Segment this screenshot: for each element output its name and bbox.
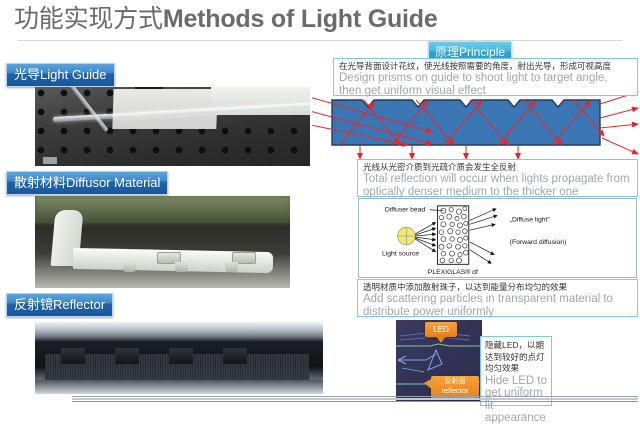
forward-diffusion-label: (Forward diffusion) [510,239,567,246]
diffuse-light-label: „Diffuse light" [510,216,551,223]
photo-reflector [35,322,323,394]
section-label-light-guide: 光导Light Guide [6,63,115,87]
led-module-3 [169,348,193,364]
diffusor-lug-2 [175,262,188,272]
led-reflector-cad-image: LED 反射面 reflector [396,320,482,402]
rod-clip [43,157,57,164]
section-label-reflector-en: Reflector [53,297,105,312]
principle-prism-en: Design prisms on guide to shoot light to… [339,72,633,97]
chrome-bezel [35,322,323,341]
callout-led: LED [425,322,457,337]
led-module-4 [223,348,247,364]
principle-prism-zh: 在光导背面设计花纹，使光线按照需要的角度，射出光导，形成可视高度 [339,61,633,72]
principle-reflection-zh: 光线从光密介质到光疏介质会发生全反射 [363,162,633,173]
light-source-label: Light source [382,251,419,258]
photo-diffusor-content [35,196,290,288]
footer-divider [72,396,638,402]
section-label-diffusor-en: Diffusor Material [66,175,160,190]
photo-diffusor [35,196,290,288]
photo-reflector-content [35,322,323,394]
diffuser-bead-diagram: Diffuser bead Light source „Diffuse ligh… [358,198,637,278]
section-label-principle-zh: 原理 [435,45,459,59]
photo-light-guide [35,87,310,166]
diffusor-part [47,210,277,272]
diffusor-lug-1 [123,262,136,272]
prism-light-guide-diagram [312,88,640,160]
led-module-2 [115,348,139,364]
incident-rays [415,222,435,251]
diffuser-bead-label: Diffuser bead [385,207,426,214]
callout-reflector-en: reflector [431,386,479,396]
section-label-reflector: 反射镜Reflector [6,293,113,317]
section-label-principle-en: Principle [459,45,505,59]
principle-reflection-en: Total reflection will occur when lights … [363,173,633,198]
section-label-light-guide-zh: 光导 [14,67,40,82]
section-label-diffusor-zh: 散射材料 [14,175,66,190]
principle-scatter-zh: 透明材质中添加散射珠子，以达到能量分布均匀的效果 [363,282,633,293]
section-label-light-guide-en: Light Guide [40,67,107,82]
diffusor-lug-3 [225,262,238,272]
page-title-en: Methods of Light Guide [163,5,438,33]
callout-reflector-zh: 反射面 [431,377,479,386]
led-module-1 [61,348,85,364]
principle-hide-led-zh: 隐藏LED，以期达到较好的点灯均匀效果 [485,340,548,375]
photo-light-guide-content [35,87,310,166]
diffused-rays [470,209,497,264]
section-label-diffusor: 散射材料Diffusor Material [6,171,168,195]
plexiglas-label: PLEXIGLAS® df [428,268,478,276]
principle-prism-textbox: 在光导背面设计花纹，使光线按照需要的角度，射出光导，形成可视高度 Design … [333,58,638,96]
slide-root: 功能实现方式Methods of Light Guide 光导Light Gui… [0,0,640,409]
principle-scatter-textbox: 透明材质中添加散射珠子，以达到能量分布均匀的效果 Add scattering … [357,279,638,317]
section-label-reflector-zh: 反射镜 [14,297,53,312]
principle-scatter-en: Add scattering particles in transparent … [363,293,633,318]
light-guide-body [332,100,600,145]
reflector-lower-chrome [35,380,323,394]
page-title: 功能实现方式Methods of Light Guide [14,2,624,36]
title-divider [18,40,622,41]
page-title-zh: 功能实现方式 [14,5,163,33]
principle-reflection-textbox: 光线从光密介质到光疏介质会发生全反射 Total reflection will… [357,159,638,197]
